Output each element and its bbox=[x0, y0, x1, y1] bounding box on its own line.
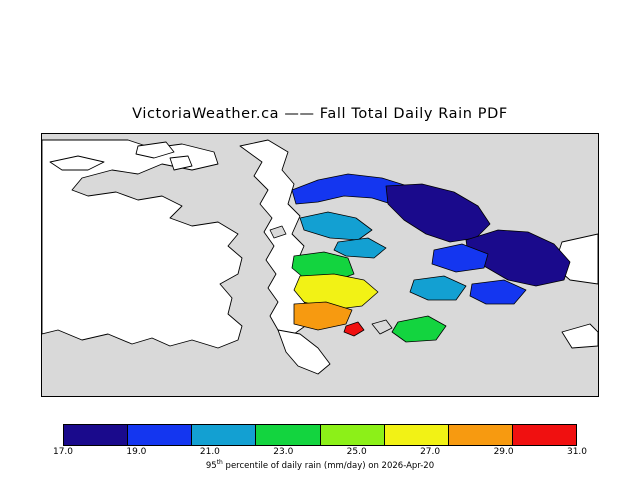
colorbar-segment-4 bbox=[255, 425, 319, 445]
colorbar-tick-0: 17.0 bbox=[53, 447, 73, 457]
map-panel bbox=[41, 133, 599, 397]
colorbar-ticks: 17.0 19.0 21.0 23.0 25.0 27.0 29.0 31.0 bbox=[41, 447, 599, 459]
colorbar-caption-prefix: 95 bbox=[206, 461, 217, 471]
colorbar-segment-5 bbox=[320, 425, 384, 445]
figure-title: VictoriaWeather.ca —— Fall Total Daily R… bbox=[0, 106, 640, 122]
map-figure: VictoriaWeather.ca —— Fall Total Daily R… bbox=[0, 0, 640, 480]
colorbar-tick-5: 27.0 bbox=[420, 447, 440, 457]
colorbar-caption: 95th percentile of daily rain (mm/day) o… bbox=[0, 459, 640, 471]
colorbar-segment-2 bbox=[127, 425, 191, 445]
colorbar-tick-6: 29.0 bbox=[494, 447, 514, 457]
colorbar-segment-8 bbox=[512, 425, 576, 445]
colorbar-tick-4: 25.0 bbox=[347, 447, 367, 457]
map-svg bbox=[42, 134, 598, 396]
colorbar bbox=[63, 424, 577, 446]
colorbar-segment-3 bbox=[191, 425, 255, 445]
colorbar-tick-7: 31.0 bbox=[567, 447, 587, 457]
colorbar-segment-1 bbox=[64, 425, 127, 445]
colorbar-segment-7 bbox=[448, 425, 512, 445]
colorbar-segment-6 bbox=[384, 425, 448, 445]
colorbar-tick-2: 21.0 bbox=[200, 447, 220, 457]
colorbar-caption-suffix: percentile of daily rain (mm/day) on 202… bbox=[223, 461, 434, 471]
colorbar-tick-1: 19.0 bbox=[126, 447, 146, 457]
colorbar-tick-3: 23.0 bbox=[273, 447, 293, 457]
